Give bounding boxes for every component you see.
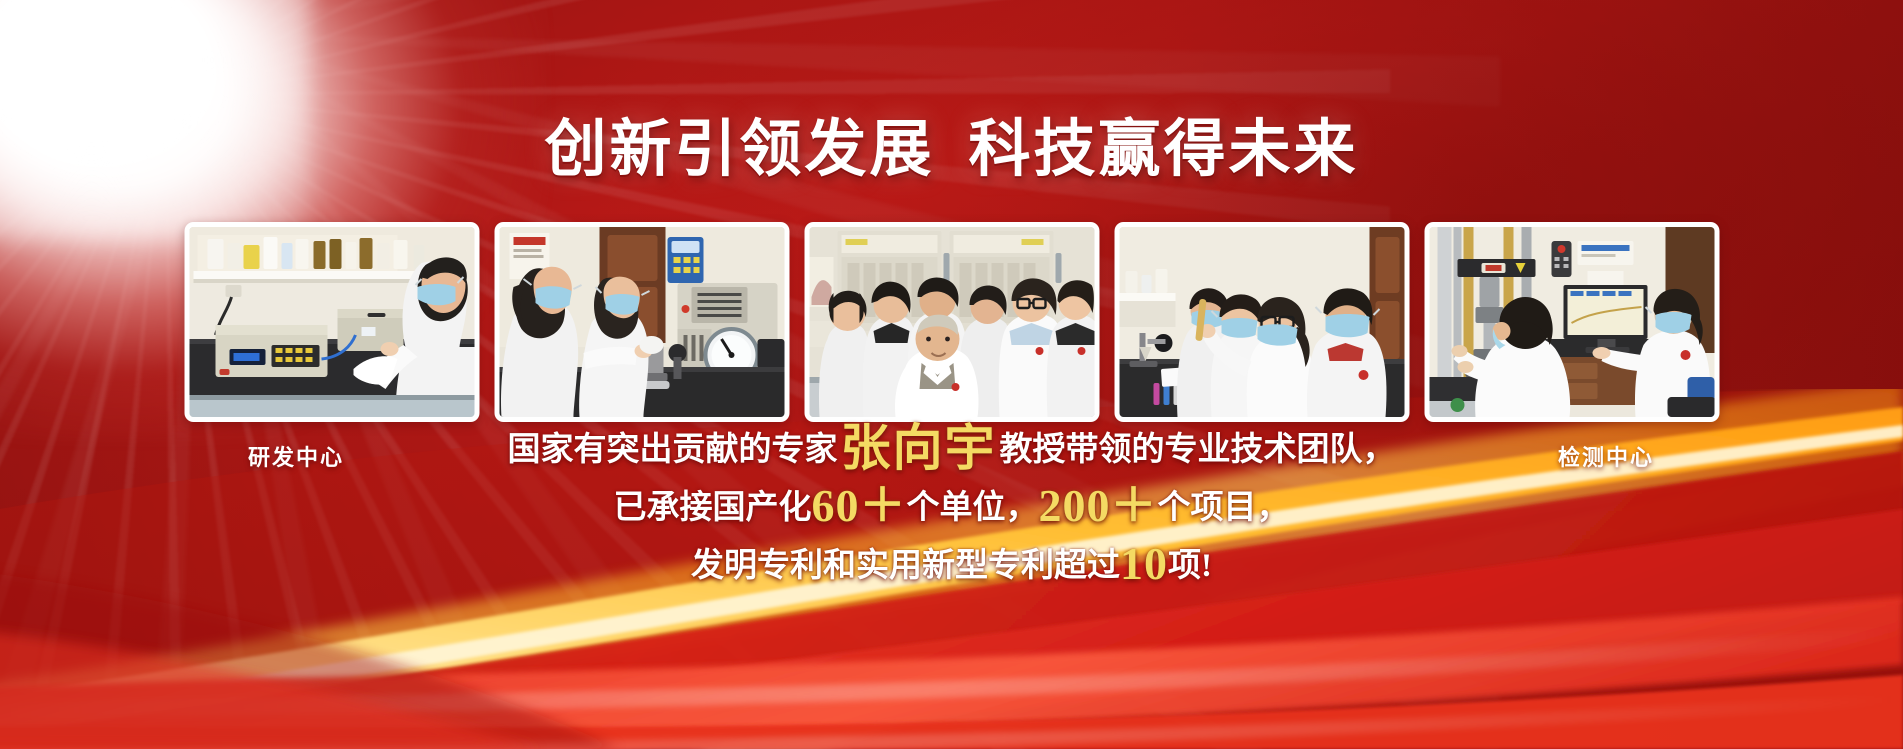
team-group-photo [809,227,1094,417]
testing-machine-photo [1429,227,1714,417]
line2-prefix: 已承接国产化 [614,490,812,526]
photo-frame-5 [1424,222,1719,422]
headline-part-2: 科技赢得未来 [969,115,1359,184]
photo-frame-2 [494,222,789,422]
line2-mid: 个单位， [907,490,1039,526]
stat-patents-count: 10 [1120,538,1168,589]
sample-inspection-photo [1119,227,1404,417]
paragraph-line-1: 国家有突出贡献的专家张向宇教授带领的专业技术团队， [0,434,1903,467]
expert-name: 张向宇 [838,420,1000,476]
line3-prefix: 发明专利和实用新型专利超过 [691,548,1120,584]
photo-frame-1 [184,222,479,422]
paragraph-line-3: 发明专利和实用新型专利超过10项! [0,550,1903,583]
line1-suffix: 教授带领的专业技术团队， [1000,432,1396,468]
photo-frame-4 [1114,222,1409,422]
photo-strip [184,222,1719,422]
page-title: 创新引领发展科技赢得未来 [0,98,1903,188]
line2-suffix: 个项目， [1158,490,1290,526]
line3-suffix: 项! [1168,548,1212,584]
paragraph-line-2: 已承接国产化60＋个单位，200＋个项目， [0,492,1903,525]
lab-instrument-photo [189,227,474,417]
promo-banner: 创新引领发展科技赢得未来 [0,0,1903,749]
banner-content: 创新引领发展科技赢得未来 [0,0,1903,749]
researchers-equipment-photo [499,227,784,417]
headline-part-1: 创新引领发展 [544,115,934,184]
stat-units-count: 60＋ [812,480,907,531]
achievements-paragraph: 国家有突出贡献的专家张向宇教授带领的专业技术团队， 已承接国产化60＋个单位，2… [0,434,1903,583]
line1-prefix: 国家有突出贡献的专家 [508,432,838,468]
stat-projects-count: 200＋ [1039,480,1158,531]
photo-frame-3 [804,222,1099,422]
